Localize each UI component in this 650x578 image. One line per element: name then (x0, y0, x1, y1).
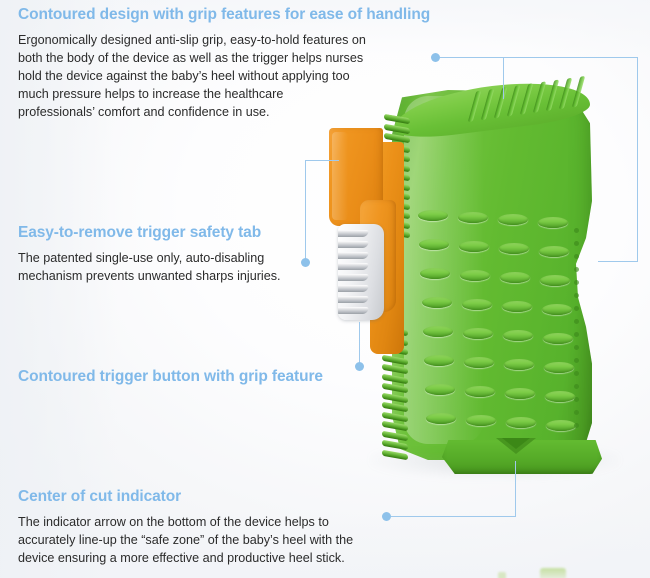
grip-dimple (463, 328, 493, 339)
feature-body-line: The patented single-use only, auto-disab… (18, 249, 281, 267)
grip-dimple (502, 301, 532, 312)
feature-title: Easy-to-remove trigger safety tab (18, 224, 281, 243)
edge-bump (574, 254, 579, 259)
trigger-blade-ridge (338, 252, 370, 259)
feature-body-line: The indicator arrow on the bottom of the… (18, 513, 353, 531)
callout-segment (637, 57, 638, 261)
edge-bump (574, 332, 579, 337)
feature-title: Contoured design with grip features for … (18, 6, 430, 25)
callout-segment (503, 57, 504, 99)
grip-dimple (424, 355, 454, 366)
grip-dimple (500, 272, 530, 283)
grip-dimple (499, 243, 529, 254)
edge-bump (574, 306, 579, 311)
side-grip-ridge (384, 123, 410, 134)
callout-segment (598, 261, 638, 262)
callout-segment (359, 322, 360, 366)
grip-dimple (464, 357, 494, 368)
cropped-element-bottom (540, 568, 566, 578)
edge-bump (574, 423, 579, 428)
side-grip-ridge (382, 383, 408, 394)
grip-dimple (459, 241, 489, 252)
edge-bump (574, 319, 579, 324)
grip-dimple (466, 415, 496, 426)
grip-dimple (425, 384, 455, 395)
side-grip-ridge (382, 392, 408, 403)
grip-dimple (543, 333, 573, 344)
side-grip-ridge (382, 411, 408, 422)
side-grip-ridge (382, 373, 408, 384)
top-grip-ridge (533, 81, 547, 113)
feature-body-line: hold the device against the baby’s heel … (18, 67, 430, 85)
edge-bump (574, 267, 579, 272)
top-grip-ridge (546, 79, 560, 111)
feature-block-trigger-safety-tab: Easy-to-remove trigger safety tab The pa… (18, 224, 281, 285)
callout-dot (382, 512, 391, 521)
silver-trigger-blade[interactable] (338, 224, 384, 320)
feature-body-line: Ergonomically designed anti-slip grip, e… (18, 31, 430, 49)
grip-dimple (540, 275, 570, 286)
callout-dot (431, 53, 440, 62)
grip-dimple (418, 210, 448, 221)
edge-bump (574, 345, 579, 350)
infographic-page: Contoured design with grip features for … (0, 0, 650, 578)
edge-bump (574, 358, 579, 363)
grip-dimple (426, 413, 456, 424)
side-grip-ridge (382, 421, 408, 432)
feature-body-line: accurately line-up the “safe zone” of th… (18, 531, 353, 549)
edge-bump (574, 241, 579, 246)
grip-dimple (423, 326, 453, 337)
feature-title: Contoured trigger button with grip featu… (18, 368, 323, 387)
feature-body-line: both the body of the device as well as t… (18, 49, 430, 67)
top-grip-ridge (507, 85, 521, 117)
heel-incision-device (300, 60, 650, 560)
edge-bump (574, 410, 579, 415)
trigger-blade-ridge (338, 263, 370, 270)
callout-segment (305, 160, 306, 260)
top-grip-ridge (481, 89, 495, 121)
grip-dimple (420, 268, 450, 279)
grip-dimple (504, 359, 534, 370)
top-grip-ridge (494, 87, 508, 119)
trigger-blade-ridge (338, 274, 370, 281)
side-grip-ridge (382, 364, 408, 375)
feature-block-contoured-design: Contoured design with grip features for … (18, 6, 430, 121)
edge-bump (574, 397, 579, 402)
feature-body-line: much pressure helps to increase the heal… (18, 85, 430, 103)
callout-segment (440, 57, 638, 58)
cropped-element-bottom-2 (498, 572, 506, 578)
trigger-blade-ridge (338, 307, 370, 314)
side-grip-ridge (382, 440, 408, 451)
grip-dimple (422, 297, 452, 308)
edge-bump (574, 293, 579, 298)
grip-dimple (503, 330, 533, 341)
grip-dimple (542, 304, 572, 315)
trigger-blade-ridge (338, 296, 370, 303)
feature-body-line: mechanism prevents unwanted sharps injur… (18, 267, 281, 285)
feature-body: The indicator arrow on the bottom of the… (18, 513, 353, 567)
grip-dimple (538, 217, 568, 228)
trigger-blade-ridge (338, 241, 370, 248)
grip-dimple (506, 417, 536, 428)
center-of-cut-arrow (502, 438, 530, 449)
side-grip-ridge (382, 449, 408, 460)
grip-dimple (539, 246, 569, 257)
edge-bump (574, 228, 579, 233)
feature-block-contoured-trigger-button: Contoured trigger button with grip featu… (18, 368, 323, 387)
callout-dot (301, 258, 310, 267)
grip-dimple (545, 391, 575, 402)
trigger-blade-ridge (338, 285, 370, 292)
edge-bump (574, 371, 579, 376)
grip-dimple (419, 239, 449, 250)
callout-segment (305, 160, 339, 161)
feature-block-center-of-cut-indicator: Center of cut indicator The indicator ar… (18, 488, 353, 567)
grip-dimple (458, 212, 488, 223)
grip-dimple (460, 270, 490, 281)
right-edge-bumps (572, 228, 584, 440)
grip-dimple (498, 214, 528, 225)
grip-dimple (505, 388, 535, 399)
callout-segment (515, 461, 516, 517)
trigger-blade-ridge (338, 230, 370, 237)
grip-dimple-array (418, 210, 578, 440)
side-grip-ridge (382, 430, 408, 441)
feature-body: The patented single-use only, auto-disab… (18, 249, 281, 285)
grip-dimple (462, 299, 492, 310)
top-grip-ridge (559, 78, 573, 110)
edge-bump (574, 280, 579, 285)
side-grip-ridge (382, 402, 408, 413)
feature-body-line: device ensuring a more effective and pro… (18, 549, 353, 567)
feature-body: Ergonomically designed anti-slip grip, e… (18, 31, 430, 122)
feature-title: Center of cut indicator (18, 488, 353, 507)
callout-dot (355, 362, 364, 371)
side-grip-ridge (382, 354, 408, 365)
top-grip-ridge (520, 83, 534, 115)
feature-body-line: professionals’ comfort and confidence in… (18, 103, 430, 121)
callout-segment (391, 516, 516, 517)
grip-dimple (465, 386, 495, 397)
grip-dimple (544, 362, 574, 373)
edge-bump (574, 384, 579, 389)
